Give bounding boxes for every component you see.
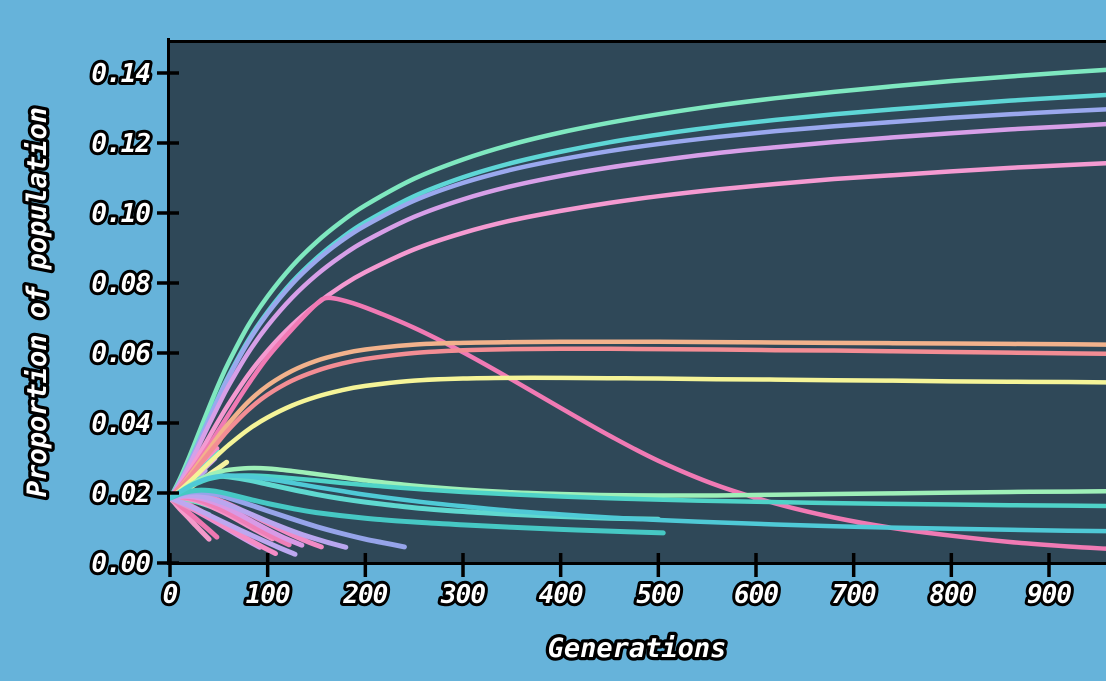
y-tick-label: 0.00 (91, 549, 150, 579)
y-tick-label: 0.12 (91, 129, 150, 159)
x-tick-label: 900 (1027, 580, 1071, 610)
x-tick-label: 600 (734, 580, 778, 610)
x-tick-label: 800 (929, 580, 973, 610)
x-tick-label: 700 (832, 580, 876, 610)
x-tick-label: 400 (539, 580, 583, 610)
y-tick-label: 0.14 (91, 59, 150, 89)
x-tick-label: 500 (636, 580, 680, 610)
y-tick-label: 0.08 (91, 269, 150, 299)
x-tick-label: 200 (342, 580, 387, 610)
x-axis-title: Generations (548, 633, 727, 664)
y-tick-label: 0.02 (91, 479, 150, 509)
x-tick-label: 100 (246, 580, 290, 610)
y-tick-label: 0.10 (91, 199, 150, 229)
x-tick-label: 0 (163, 580, 178, 610)
y-tick-label: 0.06 (91, 339, 150, 369)
line-chart: 0.000.020.040.060.080.100.120.14 0100200… (0, 0, 1106, 681)
x-tick-label: 300 (440, 580, 485, 610)
y-axis-title: Proportion of population (22, 107, 53, 497)
y-tick-label: 0.04 (91, 409, 150, 439)
chart-figure: 0.000.020.040.060.080.100.120.14 0100200… (0, 0, 1106, 681)
